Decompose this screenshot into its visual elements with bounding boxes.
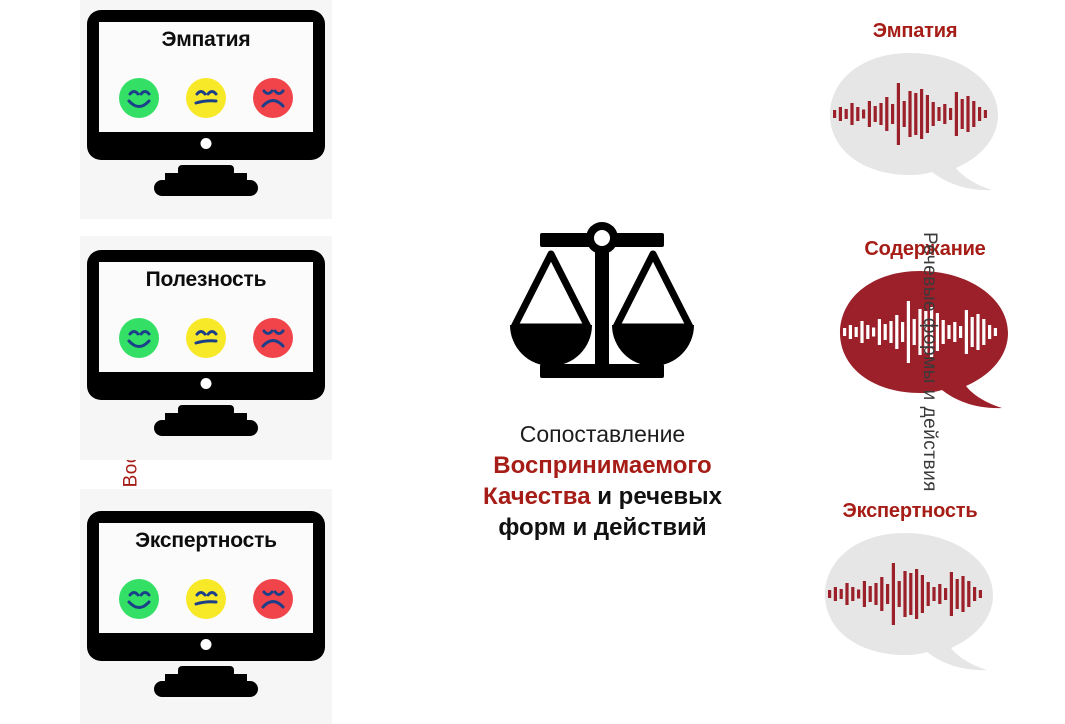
caption-line-3-red: Качества: [483, 483, 597, 510]
monitor-power-dot: [201, 639, 212, 650]
face-rating-row: [105, 578, 307, 625]
monitor-body: Эмпатия: [87, 10, 325, 160]
speech-bubble-icon[interactable]: [821, 529, 999, 679]
sad-face-icon[interactable]: [252, 77, 294, 124]
happy-face-icon[interactable]: [118, 317, 160, 364]
center-caption: Сопоставление Воспринимаемого Качества и…: [455, 420, 750, 543]
neutral-face-icon[interactable]: [185, 317, 227, 364]
caption-line-1: Сопоставление: [455, 420, 750, 450]
bubble-label: Экспертность: [795, 500, 1025, 523]
monitor-empathy: Эмпатия: [87, 10, 325, 160]
caption-line-3: Качества и речевых: [455, 481, 750, 512]
caption-line-3-black: и речевых: [597, 483, 722, 510]
monitor-stand-base: [154, 180, 258, 196]
monitor-stand-base: [154, 681, 258, 697]
neutral-face-icon[interactable]: [185, 77, 227, 124]
speech-forms-axis-label: Речевые формы и действия: [918, 232, 940, 492]
speech-bubble-icon[interactable]: [826, 49, 1004, 199]
speech-bubble-block-expertise: Экспертность: [795, 500, 1025, 679]
neutral-face-icon[interactable]: [185, 578, 227, 625]
sad-face-icon[interactable]: [252, 317, 294, 364]
monitor-power-dot: [201, 138, 212, 149]
monitor-stand-base: [154, 420, 258, 436]
face-rating-row: [105, 77, 307, 124]
speech-bubble-block-empathy: Эмпатия: [800, 20, 1030, 199]
monitor-screen: Экспертность: [99, 523, 313, 633]
face-rating-row: [105, 317, 307, 364]
monitor-expertise: Экспертность: [87, 511, 325, 661]
sad-face-icon[interactable]: [252, 578, 294, 625]
caption-line-4: форм и действий: [455, 512, 750, 543]
happy-face-icon[interactable]: [118, 77, 160, 124]
monitor-power-dot: [201, 378, 212, 389]
monitor-panel: Полезность: [80, 236, 332, 460]
caption-line-2: Воспринимаемого: [455, 450, 750, 481]
balance-scales-icon: [492, 216, 712, 396]
screen-title: Экспертность: [99, 529, 313, 553]
monitor-body: Полезность: [87, 250, 325, 400]
monitor-usefulness: Полезность: [87, 250, 325, 400]
happy-face-icon[interactable]: [118, 578, 160, 625]
monitor-screen: Полезность: [99, 262, 313, 372]
bubble-label: Эмпатия: [800, 20, 1030, 43]
monitor-body: Экспертность: [87, 511, 325, 661]
monitor-screen: Эмпатия: [99, 22, 313, 132]
monitor-panel: Эмпатия: [80, 0, 332, 219]
screen-title: Полезность: [99, 268, 313, 292]
screen-title: Эмпатия: [99, 28, 313, 52]
monitor-panel: Экспертность: [80, 489, 332, 724]
